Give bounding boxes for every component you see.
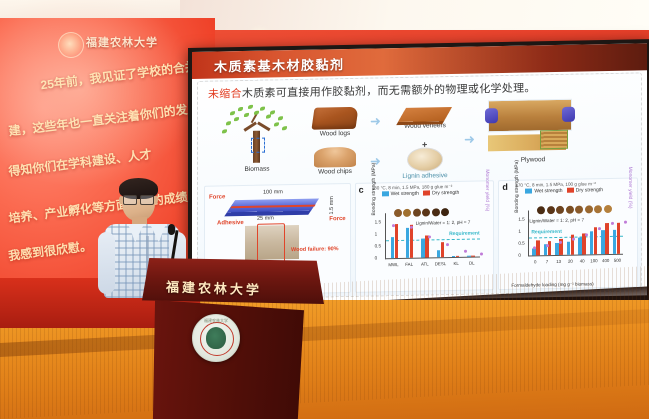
arrow-icon: ➜ xyxy=(370,114,381,127)
chart-c-ytick: 1.5 xyxy=(375,219,381,224)
chart-c-xlabels: MWL FAL ATL DESL KL DL xyxy=(386,260,480,267)
chart-d-ytick: 0 xyxy=(518,253,521,258)
emblem-text: 福建农林大学 xyxy=(193,318,239,324)
flow-wood-logs: Wood logs xyxy=(306,107,364,138)
flow-label-biomass: Biomass xyxy=(220,165,294,173)
leaf-icon xyxy=(234,117,239,121)
overlay-point xyxy=(480,252,483,255)
chart-d-xtick: 13 xyxy=(553,259,565,264)
chart-d-xtick: 500 xyxy=(612,258,624,263)
podium-top: 福建农林大学 xyxy=(142,258,324,304)
leaf-icon xyxy=(278,116,283,120)
chart-c: Bonding strength (MPa) Monomer yield (%)… xyxy=(372,193,488,271)
flow-label-wood-logs: Wood logs xyxy=(306,130,364,138)
slide-title: 木质素基木材胶黏剂 xyxy=(214,54,345,76)
glove-icon xyxy=(485,108,498,123)
thickness-label: 1.5 mm xyxy=(329,196,335,214)
bar-wet xyxy=(601,230,604,254)
bar-wet xyxy=(578,238,581,255)
chart-d-ytick: 1.5 xyxy=(518,217,524,222)
chart-d-ytick: 1 xyxy=(518,229,521,234)
glasses-icon xyxy=(123,195,154,203)
conference-photo-scene: 福建农林大学 25年前，我见证了学校的合并组 建，这些年也一直关注着你们的发展。… xyxy=(0,0,649,419)
bar-wet xyxy=(437,250,440,257)
microphone-icon xyxy=(168,224,175,235)
university-emblem-icon: 福建农林大学 xyxy=(192,314,240,362)
chart-d-xtick: 40 xyxy=(576,258,588,263)
chart-d-ytick: 0.5 xyxy=(518,241,524,246)
plywood-edge-detail xyxy=(540,130,568,150)
chart-d-xtick: 7 xyxy=(541,259,553,264)
chart-d-plot: 0 0.5 1 1.5 Requirement xyxy=(528,209,623,257)
podium-university-name: 福建农林大学 xyxy=(166,276,263,298)
flow-lignin-adhesive: Lignin adhesive xyxy=(394,147,456,180)
bar-group xyxy=(387,224,402,258)
bar-dry xyxy=(425,235,428,257)
overlap-label: 25 mm xyxy=(257,215,274,221)
flow-biomass: Biomass xyxy=(220,104,294,173)
bar-dry xyxy=(617,223,620,254)
chart-c-xtick: FAL xyxy=(401,262,417,267)
chart-c-ylabel: Bonding strength (MPa) xyxy=(371,163,377,216)
collar-left xyxy=(128,224,144,242)
flow-wood-chips: Wood chips xyxy=(306,147,364,176)
bar-wet xyxy=(467,256,470,257)
chart-d-xtick: 400 xyxy=(600,258,612,263)
bar-group xyxy=(599,223,611,254)
chart-c-y2label: Monomer yield (%) xyxy=(484,169,490,211)
chart-d-y2label: Monomer yield (%) xyxy=(627,167,633,209)
chart-d-ylabel: Bonding strength (MPa) xyxy=(514,160,520,213)
leaf-icon xyxy=(266,114,271,118)
tree-icon xyxy=(220,104,294,165)
leaf-icon xyxy=(282,126,287,130)
bar-wet xyxy=(452,256,455,257)
bar-dry xyxy=(410,225,413,258)
lignin-adhesive-icon xyxy=(407,147,443,172)
bar-dry xyxy=(548,241,551,255)
chart-d-letter: d xyxy=(502,182,508,192)
wood-veneer-icon xyxy=(398,107,452,122)
flow-label-wood-chips: Wood chips xyxy=(306,168,364,176)
leaf-icon xyxy=(274,122,279,126)
chart-d-bars xyxy=(530,209,622,256)
lens xyxy=(140,195,154,205)
bar-dry xyxy=(582,233,585,254)
chart-c-ytick: 0.5 xyxy=(375,243,381,248)
slide-lead-highlight: 未缩合 xyxy=(208,88,242,101)
flow-label-plywood: Plywood xyxy=(488,156,578,165)
leaf-icon xyxy=(238,107,243,111)
force-label-right: Force xyxy=(329,216,345,222)
length-label: 100 mm xyxy=(263,189,283,195)
bar-wet xyxy=(613,230,616,254)
overlay-point xyxy=(410,226,413,229)
university-logo-icon xyxy=(58,32,84,58)
collar-right xyxy=(150,224,166,242)
bar-group xyxy=(402,225,417,258)
overlay-point xyxy=(446,243,449,246)
chart-c-letter: c xyxy=(359,185,364,195)
chart-c-plot: 0 0.5 1 1.5 Requirement xyxy=(385,211,480,259)
banner-logo-text: 福建农林大学 xyxy=(86,34,158,50)
plywood-photo xyxy=(488,99,572,133)
bar-wet xyxy=(406,228,409,258)
chart-d-xtick: 20 xyxy=(565,259,577,264)
bar-wet xyxy=(421,239,424,258)
leaf-icon xyxy=(222,129,227,133)
overlay-point xyxy=(428,235,431,238)
bar-dry xyxy=(605,223,608,254)
bar-group xyxy=(530,240,542,255)
bar-dry xyxy=(456,255,459,257)
plywood-sample-photo xyxy=(488,134,566,151)
overlay-point xyxy=(392,224,395,227)
chart-c-xtick: DESL xyxy=(433,261,449,266)
bar-group xyxy=(588,227,600,254)
podium: 福建农林大学 福建农林大学 xyxy=(142,252,324,419)
bar-wet xyxy=(590,231,593,254)
arm-left xyxy=(98,232,115,294)
bar-group xyxy=(463,255,478,256)
leaf-icon xyxy=(230,111,235,115)
chart-c-ytick: 0 xyxy=(375,255,378,260)
bar-dry xyxy=(536,240,539,255)
chart-c-ytick: 1 xyxy=(375,231,378,236)
flow-wood-veneers: Wood veneers xyxy=(392,107,458,130)
flow-label-lignin-adhesive: Lignin adhesive xyxy=(394,172,456,180)
selection-box xyxy=(251,138,265,153)
chart-c-xtick: DL xyxy=(464,260,480,265)
overlay-point xyxy=(624,221,627,224)
chart-c-xtick: MWL xyxy=(386,262,402,267)
chart-d-xtick: 0 xyxy=(529,259,541,264)
arrow-icon: ➜ xyxy=(464,133,475,146)
glove-icon xyxy=(562,107,575,122)
process-flow-diagram: Biomass Wood logs Wood chips ➜ ➜ Wood ve… xyxy=(206,95,636,181)
bar-wet xyxy=(567,242,570,255)
leaf-icon xyxy=(260,107,265,111)
chart-d: Bonding strength (MPa) Monomer yield (%) xyxy=(515,191,631,269)
bar-wet xyxy=(391,237,394,258)
emblem-core xyxy=(206,327,226,349)
chart-d-xtick: 100 xyxy=(588,258,600,263)
chart-c-xtick: ATL xyxy=(417,261,433,266)
chart-c-xtick: KL xyxy=(448,261,464,266)
wood-chips-icon xyxy=(314,147,356,168)
bar-group xyxy=(576,233,588,254)
bar-group xyxy=(417,235,432,257)
leaf-icon xyxy=(244,113,249,117)
bar-wet xyxy=(532,248,535,255)
bar-dry xyxy=(395,224,398,258)
flow-plywood: Plywood xyxy=(488,99,578,165)
bar-group xyxy=(611,223,623,254)
bar-dry xyxy=(471,256,474,257)
bar-group xyxy=(448,255,463,257)
wood-logs-icon xyxy=(311,107,358,130)
ear xyxy=(154,196,158,204)
bar-dry xyxy=(594,227,597,254)
force-label-left: Force xyxy=(209,194,225,200)
chart-d-xlabels: 0 7 13 20 40 100 400 500 xyxy=(529,258,623,265)
overlay-point xyxy=(464,250,467,253)
bar-dry xyxy=(441,242,444,257)
leaf-icon xyxy=(248,105,253,109)
leaf-icon xyxy=(226,121,231,125)
banner-line: 我感到很欣慰。 xyxy=(7,237,92,264)
leaf-icon xyxy=(254,111,259,115)
adhesive-label: Adhesive xyxy=(217,220,244,227)
lens xyxy=(123,195,137,205)
bar-wet xyxy=(555,243,558,255)
flow-label-wood-veneers: Wood veneers xyxy=(392,122,458,130)
